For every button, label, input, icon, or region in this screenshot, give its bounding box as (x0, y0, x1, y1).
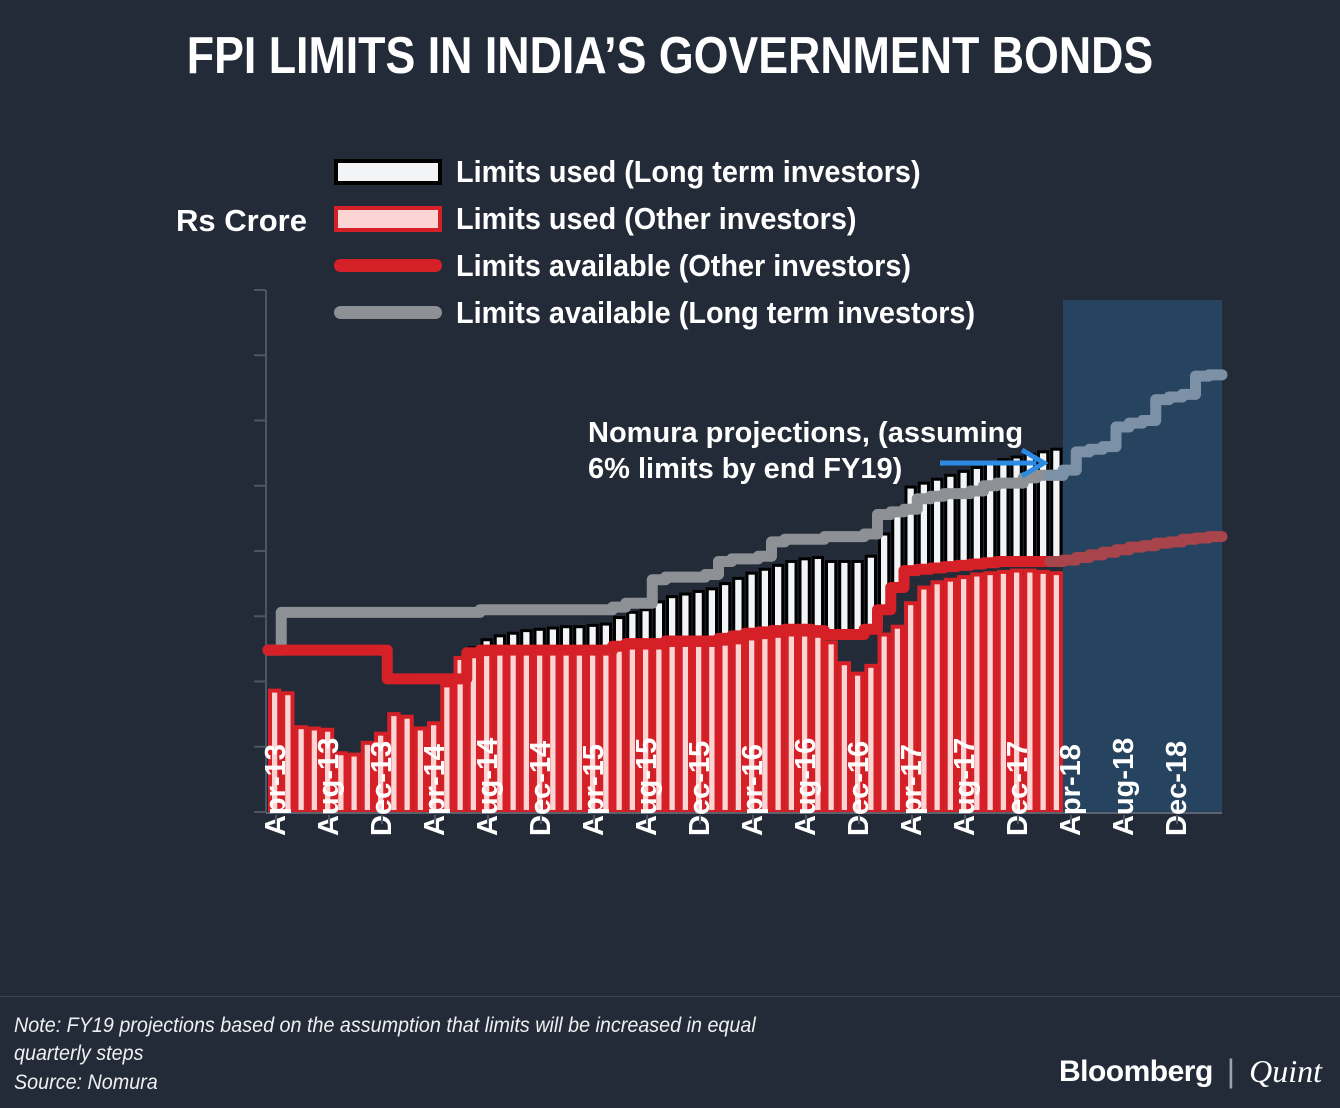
bar-limits-used-long-term (813, 558, 822, 631)
bar-limits-used-other (561, 650, 570, 812)
footer-note: Note: FY19 projections based on the assu… (14, 1012, 756, 1097)
x-axis-tick (540, 815, 542, 824)
bar-limits-used-long-term (787, 561, 796, 629)
x-axis-tick (328, 815, 330, 824)
x-axis-tick (911, 815, 913, 824)
x-axis-tick (487, 815, 489, 824)
bar-limits-used-other (1038, 572, 1047, 812)
bar-limits-used-long-term (734, 578, 743, 635)
bar-limits-used-long-term (720, 584, 729, 639)
bar-limits-used-other (508, 651, 517, 812)
brand-logo: Bloomberg | Quint (1059, 1053, 1322, 1090)
x-axis-tick (858, 815, 860, 824)
bar-limits-used-long-term (773, 565, 782, 630)
x-axis-tick (1123, 815, 1125, 824)
x-axis-tick (1017, 815, 1019, 824)
bar-limits-used-other (667, 645, 676, 812)
bar-limits-used-other (349, 755, 358, 812)
bar-limits-used-long-term (826, 561, 835, 634)
x-axis-tick (434, 815, 436, 824)
bar-limits-used-other (614, 649, 623, 812)
y-axis-labels: 0500001000001500002000002500003000003500… (0, 0, 248, 1108)
bar-limits-used-long-term (840, 561, 849, 634)
x-axis-tick (1070, 815, 1072, 824)
bar-limits-used-other (720, 644, 729, 812)
brand-quint-text: Quint (1249, 1053, 1322, 1090)
bar-limits-used-long-term (760, 569, 769, 632)
bar-limits-used-other (879, 635, 888, 812)
x-axis-tick (805, 815, 807, 824)
bar-limits-used-long-term (853, 561, 862, 634)
x-axis-tick (646, 815, 648, 824)
x-axis-tick (381, 815, 383, 824)
x-axis-tick (699, 815, 701, 824)
bar-limits-used-long-term (800, 559, 809, 629)
brand-bloomberg-text: Bloomberg (1059, 1055, 1213, 1089)
bar-limits-used-long-term (747, 573, 756, 633)
x-axis-tick (275, 815, 277, 824)
bar-limits-used-other (932, 582, 941, 812)
bar-limits-used-other (773, 636, 782, 812)
bar-limits-used-long-term (667, 597, 676, 641)
x-axis-tick (964, 815, 966, 824)
footer-divider (0, 996, 1340, 997)
bar-limits-used-long-term (694, 591, 703, 641)
bar-limits-used-long-term (707, 589, 716, 641)
bar-limits-used-other (826, 642, 835, 812)
x-axis-tick (1176, 815, 1178, 824)
bar-limits-used-long-term (681, 594, 690, 641)
annotation-arrow-icon (940, 447, 1048, 479)
bar-limits-used-other (296, 727, 305, 812)
bar-limits-used-other (985, 573, 994, 812)
chart-root: FPI LIMITS IN INDIA’S GOVERNMENT BONDS L… (0, 0, 1340, 1108)
bar-limits-used-other (402, 717, 411, 812)
x-axis-tick (752, 815, 754, 824)
brand-separator: | (1227, 1053, 1235, 1090)
x-axis-tick (593, 815, 595, 824)
